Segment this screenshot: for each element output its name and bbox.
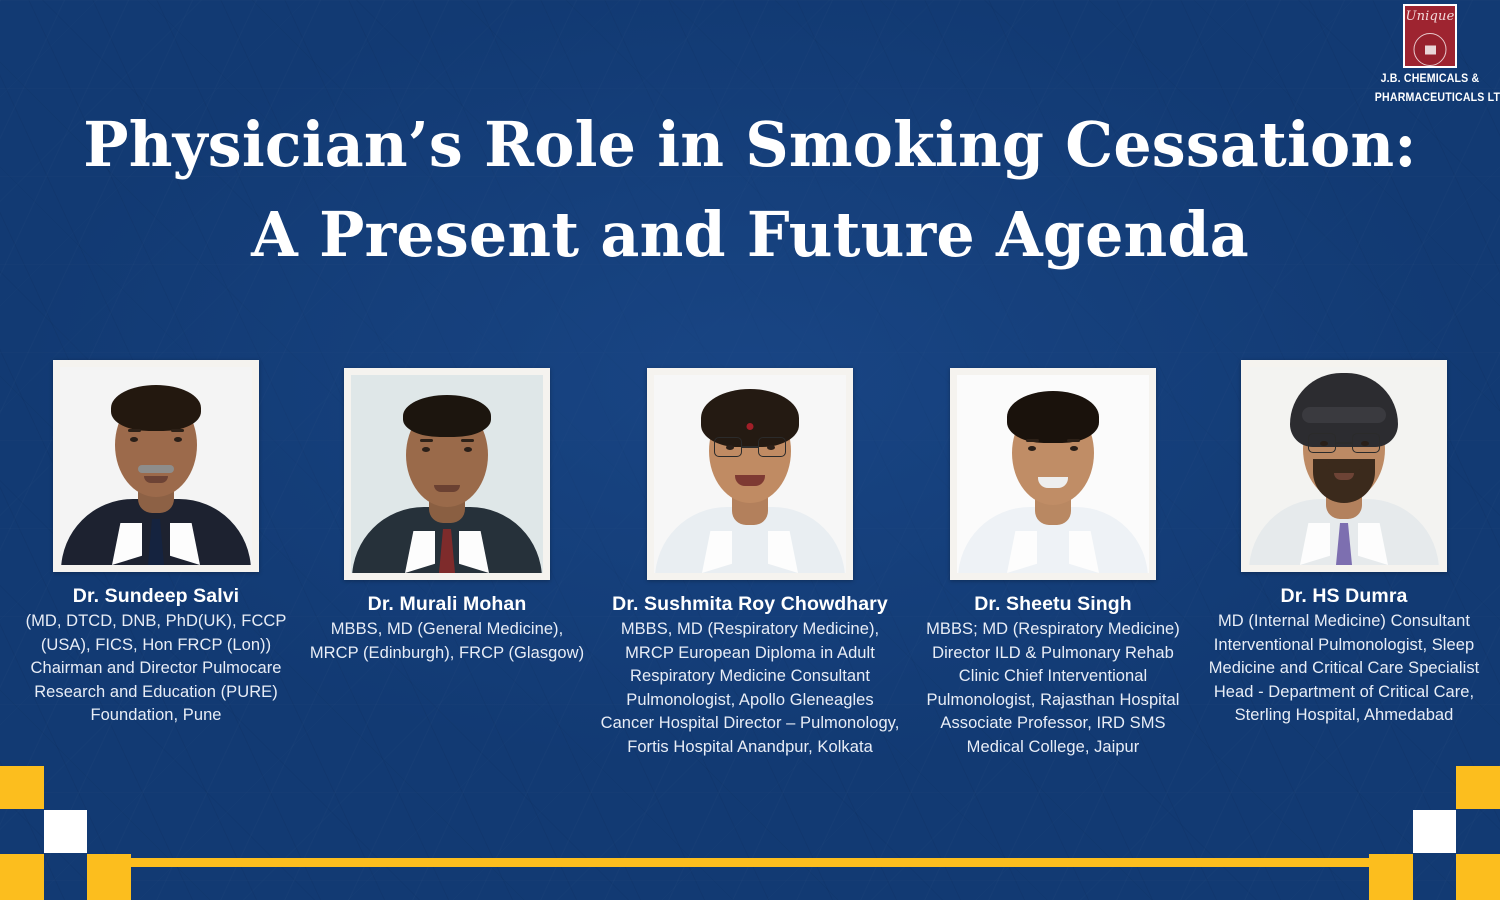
- logo-seal-icon: [1414, 33, 1447, 66]
- speaker-credentials: MBBS, MD (General Medicine), MRCP (Edinb…: [309, 618, 585, 665]
- portrait-illustration: [1248, 367, 1440, 565]
- company-name-line2: PHARMACEUTICALS LTD.: [1375, 92, 1485, 106]
- speaker-credentials: MBBS, MD (Respiratory Medicine), MRCP Eu…: [600, 618, 900, 760]
- speaker-name: Dr. Sundeep Salvi: [73, 584, 239, 608]
- speaker-photo: CANVA STOCK CANVA STOCK: [351, 375, 543, 573]
- page-title: Physician’s Role in Smoking Cessation: A…: [0, 100, 1500, 280]
- speaker-card: CANVA STOCK CANVA STOCK Dr. Sushmita Roy…: [600, 368, 900, 760]
- speaker-name: Dr. Murali Mohan: [368, 592, 527, 616]
- decor-square-yellow-right-1: [1456, 766, 1500, 809]
- decor-square-white-right: [1413, 810, 1456, 853]
- decor-square-yellow-right-2: [1456, 854, 1500, 900]
- title-line-2: A Present and Future Agenda: [23, 190, 1478, 280]
- decor-bottom-bracket: [90, 858, 1410, 900]
- speaker-credentials: MD (Internal Medicine) Consultant Interv…: [1206, 610, 1482, 728]
- speaker-photo-frame: CANVA STOCK CANVA STOCK: [1241, 360, 1447, 572]
- poster-canvas: Unique J.B. CHEMICALS & PHARMACEUTICALS …: [0, 0, 1500, 900]
- speaker-card: CANVA STOCK CANVA STOCK Dr. Sundeep Salv…: [18, 360, 294, 760]
- decor-square-white-left: [44, 810, 87, 853]
- speaker-photo-frame: CANVA STOCK CANVA STOCK: [647, 368, 853, 580]
- speaker-list: CANVA STOCK CANVA STOCK Dr. Sundeep Salv…: [0, 360, 1500, 760]
- portrait-illustration: [654, 375, 846, 573]
- speaker-credentials: MBBS; MD (Respiratory Medicine) Director…: [915, 618, 1191, 760]
- logo-script-text: Unique: [1405, 9, 1455, 24]
- speaker-photo-frame: CANVA STOCK CANVA STOCK: [53, 360, 259, 572]
- speaker-card: CANVA STOCK CANVA STOCK Dr. Murali Mohan…: [309, 368, 585, 760]
- decor-square-yellow-left-1: [0, 766, 44, 809]
- speaker-name: Dr. Sushmita Roy Chowdhary: [612, 592, 888, 616]
- speaker-photo-frame: CANVA STOCK CANVA STOCK: [950, 368, 1156, 580]
- speaker-photo: CANVA STOCK CANVA STOCK: [957, 375, 1149, 573]
- speaker-name: Dr. HS Dumra: [1281, 584, 1408, 608]
- speaker-card: CANVA STOCK CANVA STOCK Dr. Sheetu Singh…: [915, 368, 1191, 760]
- company-logo: Unique J.B. CHEMICALS & PHARMACEUTICALS …: [1370, 4, 1490, 105]
- unique-logo-icon: Unique: [1403, 4, 1457, 68]
- speaker-credentials: (MD, DTCD, DNB, PhD(UK), FCCP (USA), FIC…: [18, 610, 294, 728]
- speaker-photo: CANVA STOCK CANVA STOCK: [654, 375, 846, 573]
- speaker-photo-frame: CANVA STOCK CANVA STOCK: [344, 368, 550, 580]
- speaker-photo: CANVA STOCK CANVA STOCK: [60, 367, 252, 565]
- portrait-illustration: [60, 367, 252, 565]
- company-name-line1: J.B. CHEMICALS &: [1375, 73, 1485, 87]
- portrait-illustration: [957, 375, 1149, 573]
- portrait-illustration: [351, 375, 543, 573]
- speaker-photo: CANVA STOCK CANVA STOCK: [1248, 367, 1440, 565]
- decor-square-yellow-left-2: [0, 854, 44, 900]
- speaker-card: CANVA STOCK CANVA STOCK Dr. HS Dumra MD …: [1206, 360, 1482, 760]
- speaker-name: Dr. Sheetu Singh: [974, 592, 1132, 616]
- title-line-1: Physician’s Role in Smoking Cessation:: [23, 100, 1478, 190]
